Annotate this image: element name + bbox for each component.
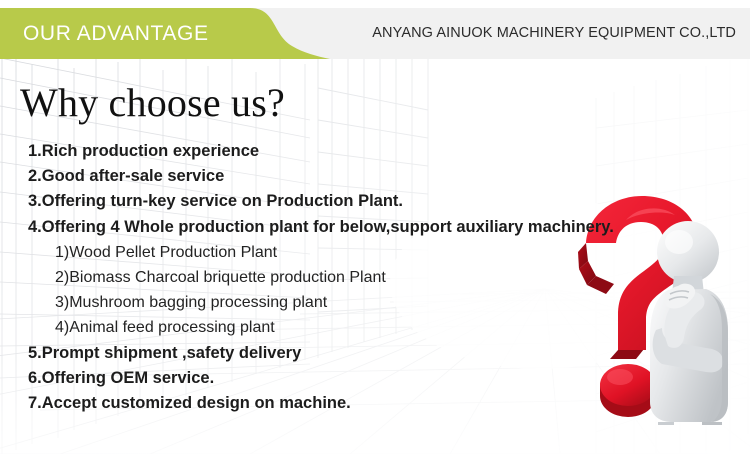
list-item: 1.Rich production experience [28, 139, 628, 164]
content-area: Why choose us? 1.Rich production experie… [0, 59, 750, 454]
list-item: 5.Prompt shipment ,safety delivery [28, 341, 628, 366]
list-item: 1)Wood Pellet Production Plant [28, 240, 628, 265]
promo-banner-page: OUR ADVANTAGE ANYANG AINUOK MACHINERY EQ… [0, 0, 750, 454]
list-item: 2)Biomass Charcoal briquette production … [28, 265, 628, 290]
page-title: Why choose us? [20, 79, 285, 126]
list-item: 3)Mushroom bagging processing plant [28, 290, 628, 315]
company-name-label: ANYANG AINUOK MACHINERY EQUIPMENT CO.,LT… [372, 8, 736, 59]
list-item: 3.Offering turn-key service on Productio… [28, 189, 628, 214]
advantage-list: 1.Rich production experience 2.Good afte… [28, 139, 628, 416]
list-item: 6.Offering OEM service. [28, 366, 628, 391]
header-bar: OUR ADVANTAGE ANYANG AINUOK MACHINERY EQ… [0, 8, 750, 59]
list-item: 4.Offering 4 Whole production plant for … [28, 215, 628, 240]
list-item: 2.Good after-sale service [28, 164, 628, 189]
list-item: 4)Animal feed processing plant [28, 315, 628, 340]
advantage-banner-label: OUR ADVANTAGE [23, 8, 209, 59]
list-item: 7.Accept customized design on machine. [28, 391, 628, 416]
